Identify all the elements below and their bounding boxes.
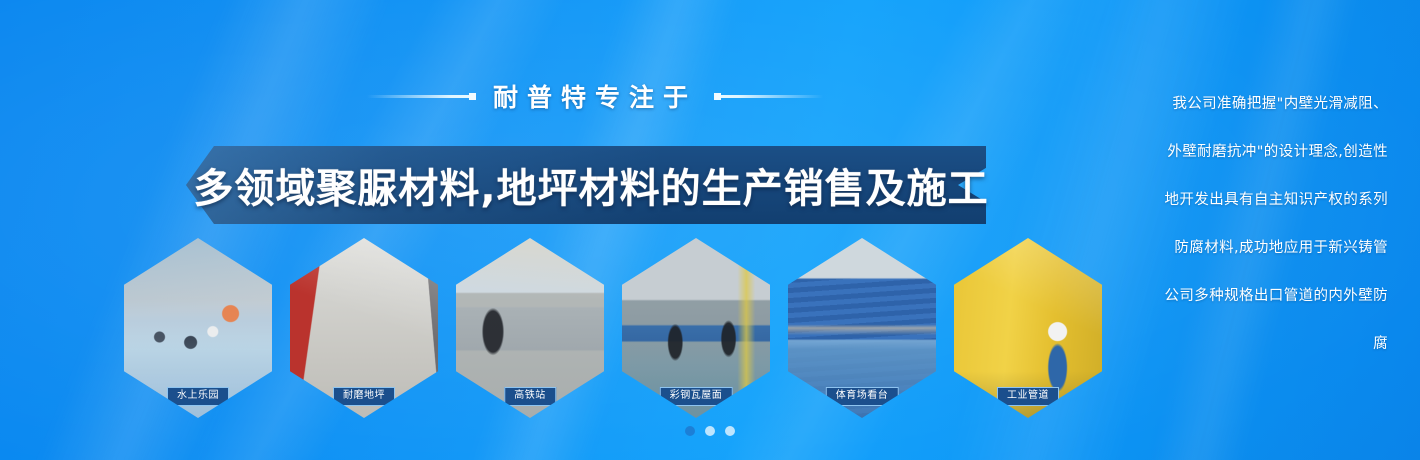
headline-text: 多领域聚脲材料,地坪材料的生产销售及施工 [186,146,986,224]
carousel-dot-3[interactable] [725,426,735,436]
headline-banner: 多领域聚脲材料,地坪材料的生产销售及施工 [186,146,986,224]
kicker-row: 耐普特专注于 [180,76,1010,116]
gallery-tile[interactable]: 工业管道 [954,238,1102,418]
kicker-text: 耐普特专注于 [493,78,697,114]
gallery-tile-label: 体育场看台 [826,387,899,406]
carousel-dots [0,426,1420,436]
hero-banner: 耐普特专注于 多领域聚脲材料,地坪材料的生产销售及施工 我公司准确把握"内壁光滑… [0,0,1420,460]
tile-gallery: 水上乐园 耐磨地坪 高铁站 彩钢瓦屋面 体育场看台 工业管道 [124,238,1124,418]
carousel-dot-2[interactable] [705,426,715,436]
gallery-tile[interactable]: 水上乐园 [124,238,272,418]
gallery-tile[interactable]: 高铁站 [456,238,604,418]
carousel-dot-1[interactable] [685,426,695,436]
gallery-tile-label: 工业管道 [997,387,1059,406]
decorative-line-right-icon [715,95,823,98]
decorative-line-left-icon [367,95,475,98]
gallery-tile-label: 耐磨地坪 [333,387,395,406]
gallery-tile[interactable]: 耐磨地坪 [290,238,438,418]
gallery-tile-label: 彩钢瓦屋面 [660,387,733,406]
gallery-tile-label: 水上乐园 [167,387,229,406]
gallery-tile[interactable]: 体育场看台 [788,238,936,418]
gallery-tile-label: 高铁站 [504,387,556,406]
gallery-tile[interactable]: 彩钢瓦屋面 [622,238,770,418]
side-description-text: 我公司准确把握"内壁光滑减阻、外壁耐磨抗冲"的设计理念,创造性地开发出具有自主知… [1160,80,1388,368]
